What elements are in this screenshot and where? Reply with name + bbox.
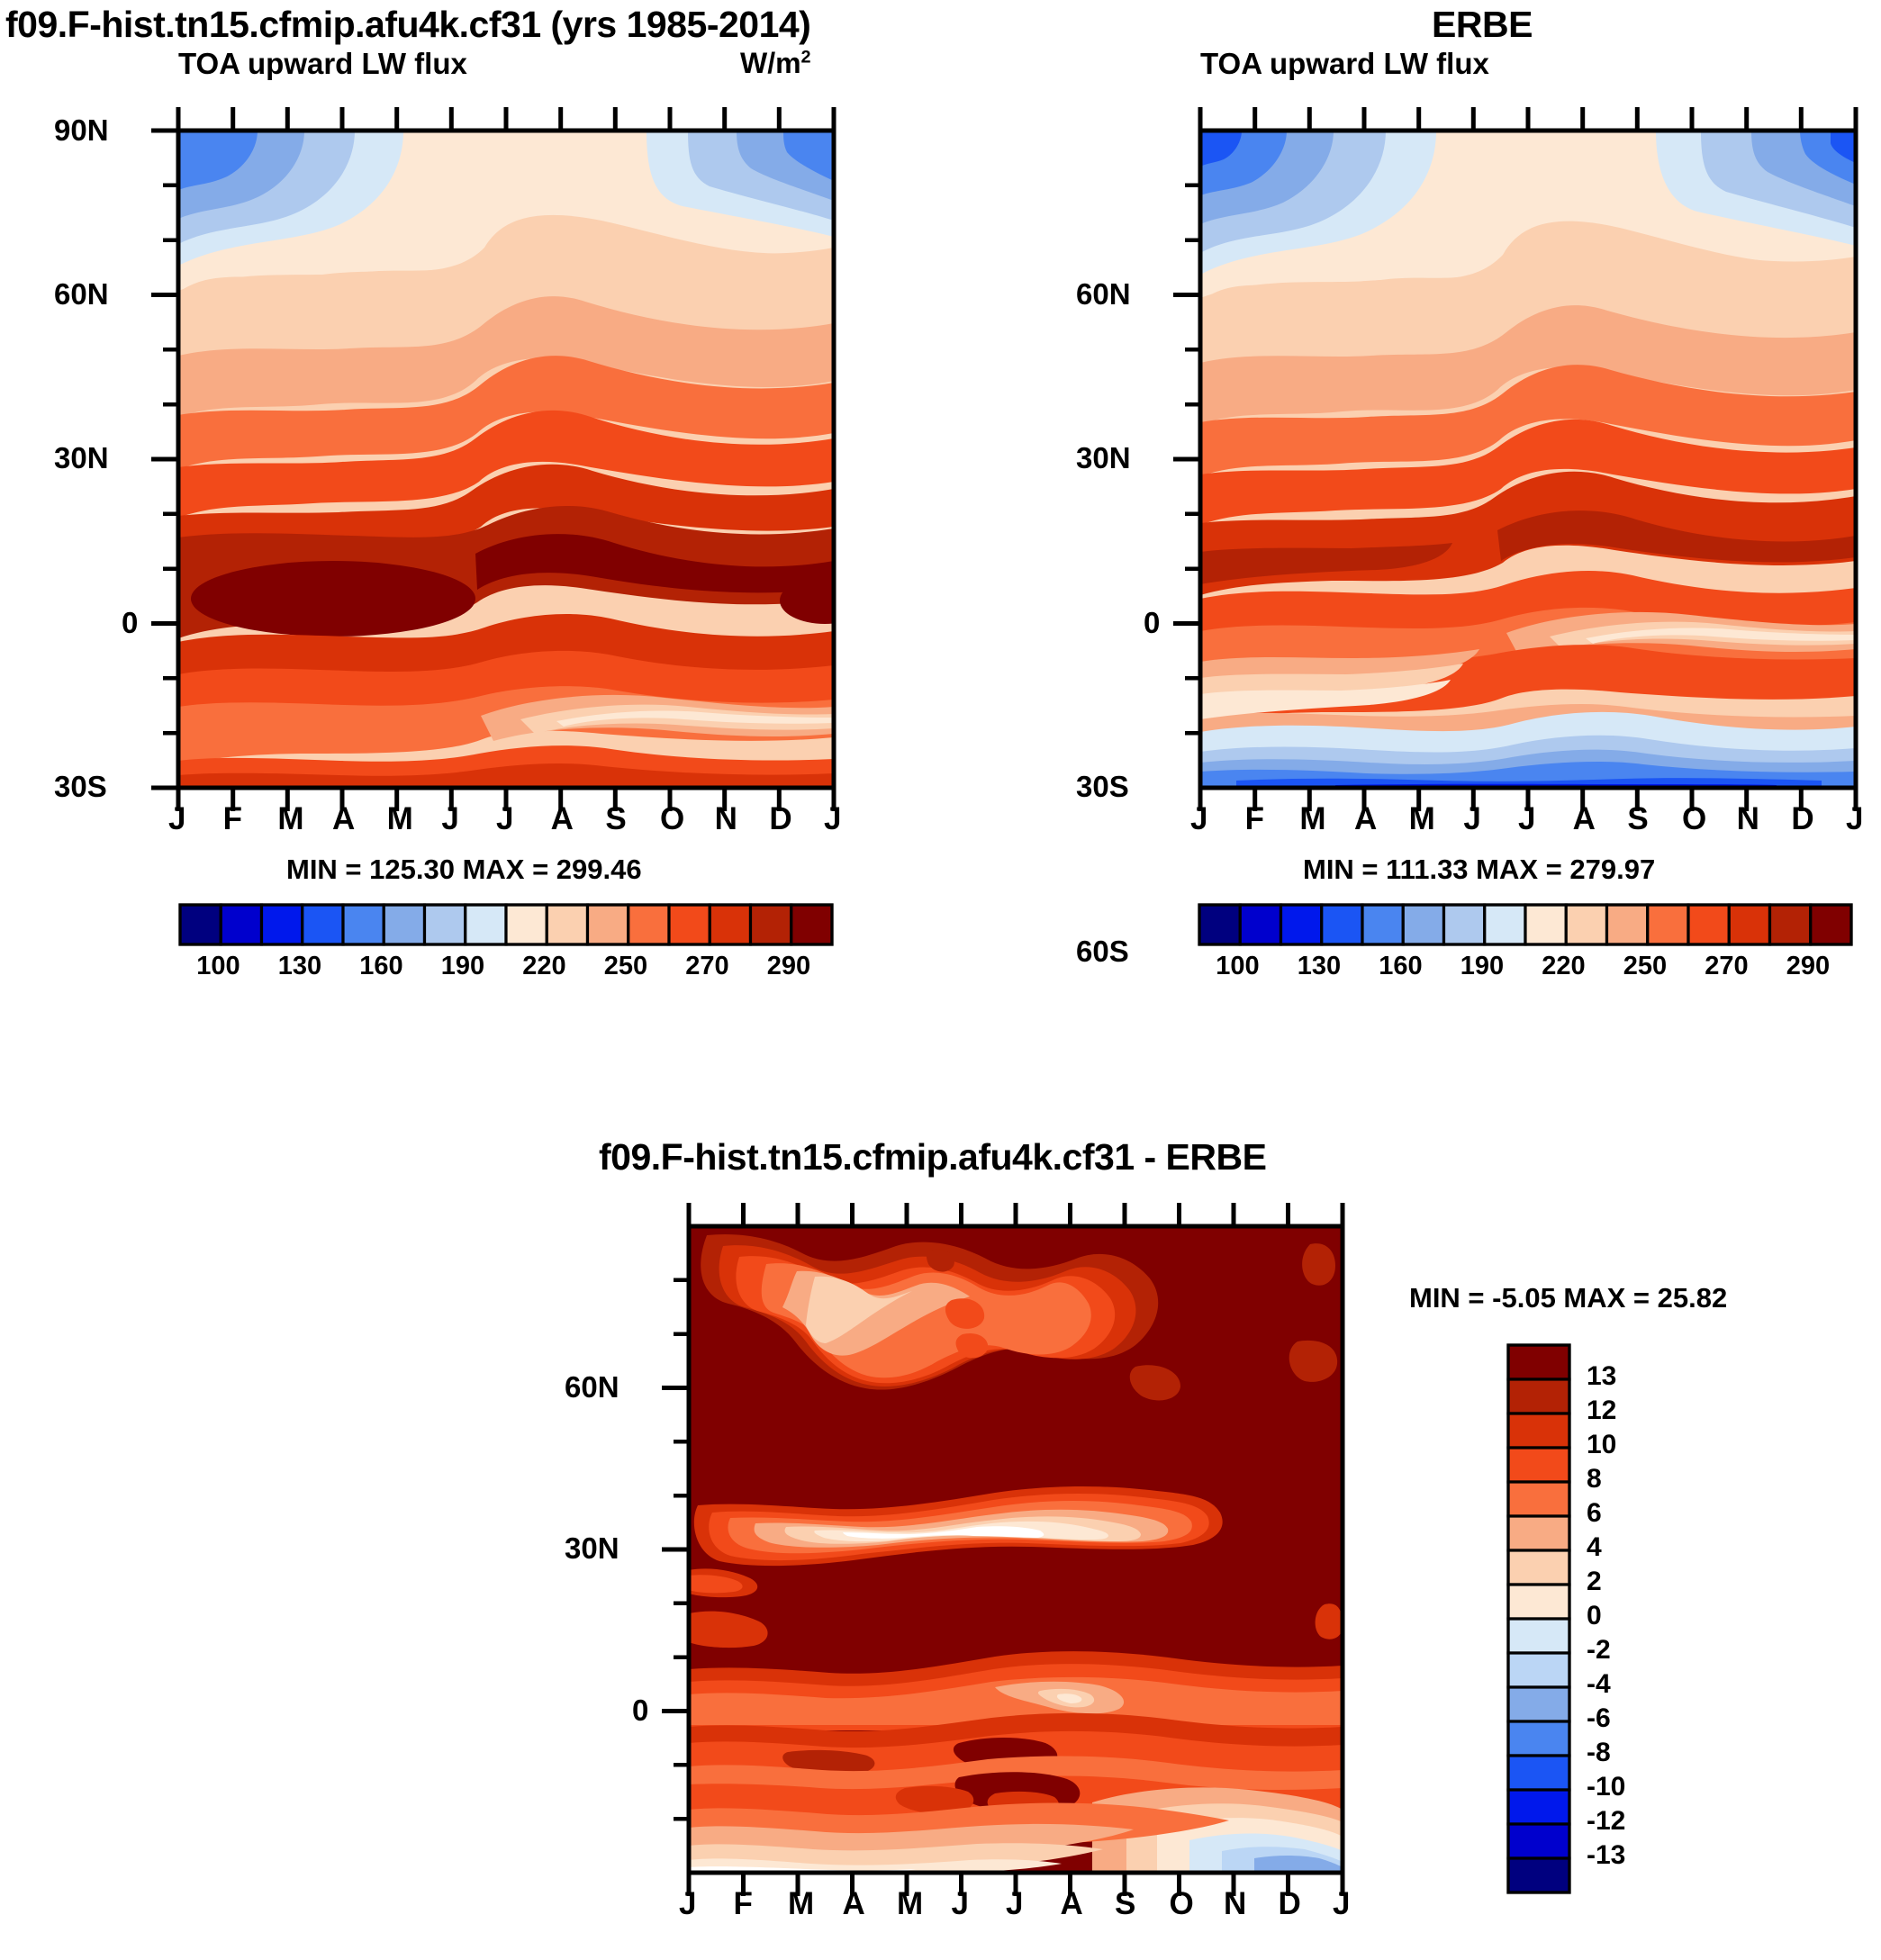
month-label-obs-a-7: A bbox=[1573, 801, 1596, 837]
obs-colorbar-cell-12[interactable] bbox=[1688, 905, 1729, 944]
obs-y-tick-label-eq: 0 bbox=[1144, 606, 1160, 640]
month-label-obs-n-10: N bbox=[1737, 801, 1759, 837]
obs-colorbar-cell-2[interactable] bbox=[1281, 905, 1322, 944]
model-contour-panel bbox=[178, 131, 834, 788]
model-colorbar-cell-4[interactable] bbox=[343, 905, 384, 944]
diff-colorbar-cell-2[interactable] bbox=[1508, 1414, 1569, 1448]
y-tick-label-60n: 60N bbox=[54, 277, 109, 312]
month-label-model-j-6: J bbox=[496, 801, 513, 837]
model-colorbar-label-160: 160 bbox=[359, 952, 402, 981]
y-tick-label-30n: 30N bbox=[54, 441, 109, 475]
diff-panel-title: f09.F-hist.tn15.cfmip.afu4k.cf31 - ERBE bbox=[599, 1136, 1266, 1179]
diff-colorbar-cell-14[interactable] bbox=[1508, 1824, 1569, 1858]
y-tick-label-30s: 30S bbox=[54, 770, 107, 804]
diff-colorbar-cell-9[interactable] bbox=[1508, 1653, 1569, 1687]
diff-colorbar-label-neg8: -8 bbox=[1587, 1738, 1611, 1768]
obs-colorbar-cell-4[interactable] bbox=[1362, 905, 1403, 944]
obs-contour-panel bbox=[1200, 131, 1856, 788]
diff-colorbar-label-neg6: -6 bbox=[1587, 1703, 1611, 1734]
month-label-diff-j-5: J bbox=[952, 1886, 969, 1922]
diff-y-ticks bbox=[662, 1280, 689, 1819]
month-label-model-m-4: M bbox=[387, 801, 413, 837]
diff-colorbar-label-neg12: -12 bbox=[1587, 1806, 1625, 1837]
month-label-obs-f-1: F bbox=[1245, 801, 1264, 837]
diff-colorbar-cell-0[interactable] bbox=[1508, 1345, 1569, 1379]
diff-colorbar-cell-13[interactable] bbox=[1508, 1790, 1569, 1824]
model-colorbar-cell-11[interactable] bbox=[629, 905, 669, 944]
model-panel-subtitle: TOA upward LW flux bbox=[178, 47, 467, 81]
model-colorbar-cell-7[interactable] bbox=[466, 905, 506, 944]
month-label-diff-j-12: J bbox=[1333, 1886, 1350, 1922]
diff-colorbar-cell-6[interactable] bbox=[1508, 1550, 1569, 1585]
obs-contour-plot bbox=[1200, 131, 1856, 788]
diff-contour-panel bbox=[689, 1226, 1343, 1873]
obs-colorbar-label-100: 100 bbox=[1216, 952, 1259, 981]
obs-colorbar-label-220: 220 bbox=[1542, 952, 1585, 981]
obs-colorbar-cell-3[interactable] bbox=[1322, 905, 1362, 944]
model-colorbar-label-100: 100 bbox=[196, 952, 240, 981]
y-tick-label-eq: 0 bbox=[122, 606, 138, 640]
y-tick-label-90n: 90N bbox=[54, 113, 109, 148]
obs-minmax-label: MIN = 111.33 MAX = 279.97 bbox=[1303, 854, 1655, 886]
month-label-obs-j-5: J bbox=[1463, 801, 1480, 837]
model-axes bbox=[178, 131, 834, 788]
month-label-model-f-1: F bbox=[223, 801, 242, 837]
diff-colorbar-cell-5[interactable] bbox=[1508, 1516, 1569, 1550]
obs-colorbar-cell-9[interactable] bbox=[1566, 905, 1606, 944]
obs-y-tick-label-60s: 60S bbox=[1076, 935, 1129, 969]
diff-colorbar[interactable] bbox=[1508, 1345, 1569, 1892]
month-label-obs-m-2: M bbox=[1299, 801, 1325, 837]
model-colorbar[interactable] bbox=[180, 905, 832, 944]
month-label-model-a-3: A bbox=[332, 801, 355, 837]
month-label-obs-m-4: M bbox=[1409, 801, 1435, 837]
month-label-model-m-2: M bbox=[277, 801, 303, 837]
diff-colorbar-label-4: 4 bbox=[1587, 1532, 1602, 1563]
obs-colorbar-label-290: 290 bbox=[1786, 952, 1830, 981]
month-label-diff-n-10: N bbox=[1224, 1886, 1246, 1922]
month-label-obs-j-12: J bbox=[1846, 801, 1863, 837]
model-colorbar-label-270: 270 bbox=[685, 952, 728, 981]
figure-root: f09.F-hist.tn15.cfmip.afu4k.cf31 (yrs 19… bbox=[0, 0, 1881, 1960]
model-minmax-label: MIN = 125.30 MAX = 299.46 bbox=[286, 854, 642, 886]
model-colorbar-cell-6[interactable] bbox=[425, 905, 466, 944]
obs-colorbar-cell-13[interactable] bbox=[1729, 905, 1769, 944]
obs-colorbar-cell-1[interactable] bbox=[1240, 905, 1280, 944]
diff-colorbar-label-neg4: -4 bbox=[1587, 1669, 1611, 1700]
diff-colorbar-label-8: 8 bbox=[1587, 1464, 1602, 1495]
diff-colorbar-cell-3[interactable] bbox=[1508, 1448, 1569, 1482]
model-colorbar-label-220: 220 bbox=[522, 952, 565, 981]
diff-ylab-eq: 0 bbox=[632, 1694, 648, 1728]
obs-colorbar-cell-11[interactable] bbox=[1648, 905, 1688, 944]
month-label-obs-d-11: D bbox=[1791, 801, 1813, 837]
month-label-obs-s-8: S bbox=[1627, 801, 1648, 837]
model-x-ticks bbox=[178, 107, 834, 811]
diff-minmax-label: MIN = -5.05 MAX = 25.82 bbox=[1409, 1282, 1727, 1314]
month-label-diff-s-8: S bbox=[1115, 1886, 1135, 1922]
month-label-model-n-10: N bbox=[715, 801, 737, 837]
month-label-model-d-11: D bbox=[769, 801, 791, 837]
obs-colorbar-cell-10[interactable] bbox=[1607, 905, 1648, 944]
month-label-obs-j-6: J bbox=[1518, 801, 1535, 837]
model-colorbar-cell-8[interactable] bbox=[506, 905, 547, 944]
model-colorbar-cell-15[interactable] bbox=[791, 905, 832, 944]
diff-colorbar-cell-12[interactable] bbox=[1508, 1756, 1569, 1790]
diff-contour-plot bbox=[689, 1226, 1343, 1873]
obs-y-tick-label-30n: 30N bbox=[1076, 441, 1131, 475]
diff-ylab-30n: 30N bbox=[565, 1531, 619, 1566]
obs-colorbar-cell-8[interactable] bbox=[1525, 905, 1566, 944]
diff-colorbar-label-2: 2 bbox=[1587, 1567, 1602, 1597]
obs-y-tick-label-60n: 60N bbox=[1076, 277, 1131, 312]
model-colorbar-cell-9[interactable] bbox=[547, 905, 587, 944]
month-label-obs-j-0: J bbox=[1190, 801, 1207, 837]
model-y-ticks bbox=[151, 131, 178, 788]
diff-colorbar-label-13: 13 bbox=[1587, 1361, 1616, 1392]
month-label-diff-a-3: A bbox=[843, 1886, 865, 1922]
month-label-model-a-7: A bbox=[551, 801, 574, 837]
month-label-diff-f-1: F bbox=[734, 1886, 753, 1922]
diff-colorbar-label-neg10: -10 bbox=[1587, 1772, 1625, 1802]
diff-colorbar-label-10: 10 bbox=[1587, 1430, 1616, 1460]
model-colorbar-cell-2[interactable] bbox=[262, 905, 303, 944]
diff-colorbar-label-6: 6 bbox=[1587, 1498, 1602, 1529]
obs-y-ticks bbox=[1173, 185, 1200, 733]
month-label-model-j-5: J bbox=[441, 801, 458, 837]
obs-colorbar-cell-5[interactable] bbox=[1403, 905, 1443, 944]
diff-colorbar-cell-7[interactable] bbox=[1508, 1585, 1569, 1619]
obs-colorbar-label-130: 130 bbox=[1298, 952, 1341, 981]
obs-colorbar-label-250: 250 bbox=[1623, 952, 1667, 981]
model-colorbar-cell-14[interactable] bbox=[751, 905, 791, 944]
model-colorbar-label-250: 250 bbox=[604, 952, 647, 981]
model-colorbar-cell-5[interactable] bbox=[384, 905, 424, 944]
diff-colorbar-label-neg13: -13 bbox=[1587, 1840, 1625, 1871]
obs-colorbar-label-190: 190 bbox=[1460, 952, 1504, 981]
model-colorbar-cell-0[interactable] bbox=[180, 905, 221, 944]
diff-colorbar-label-neg2: -2 bbox=[1587, 1635, 1611, 1666]
month-label-model-o-9: O bbox=[660, 801, 684, 837]
month-label-model-j-0: J bbox=[168, 801, 185, 837]
obs-colorbar-cell-7[interactable] bbox=[1485, 905, 1525, 944]
obs-y-tick-label-30s: 30S bbox=[1076, 770, 1129, 804]
diff-colorbar-cell-4[interactable] bbox=[1508, 1482, 1569, 1516]
diff-ylab-60n: 60N bbox=[565, 1370, 619, 1405]
model-colorbar-label-290: 290 bbox=[767, 952, 810, 981]
obs-colorbar-cell-15[interactable] bbox=[1811, 905, 1851, 944]
obs-colorbar-label-160: 160 bbox=[1379, 952, 1422, 981]
month-label-diff-o-9: O bbox=[1170, 1886, 1194, 1922]
month-label-diff-m-4: M bbox=[897, 1886, 923, 1922]
diff-colorbar-cell-15[interactable] bbox=[1508, 1858, 1569, 1892]
model-panel-title: f09.F-hist.tn15.cfmip.afu4k.cf31 (yrs 19… bbox=[5, 4, 810, 46]
month-label-obs-o-9: O bbox=[1682, 801, 1706, 837]
month-label-diff-m-2: M bbox=[788, 1886, 814, 1922]
units-label: W/m2 bbox=[740, 47, 811, 80]
obs-colorbar-label-270: 270 bbox=[1705, 952, 1748, 981]
model-colorbar-cell-13[interactable] bbox=[710, 905, 750, 944]
model-colorbar-label-130: 130 bbox=[278, 952, 321, 981]
month-label-model-s-8: S bbox=[605, 801, 626, 837]
month-label-model-j-12: J bbox=[824, 801, 841, 837]
obs-colorbar-cell-0[interactable] bbox=[1199, 905, 1240, 944]
obs-colorbar-cell-14[interactable] bbox=[1770, 905, 1811, 944]
model-colorbar-cell-3[interactable] bbox=[303, 905, 343, 944]
month-label-diff-d-11: D bbox=[1279, 1886, 1301, 1922]
model-colorbar-label-190: 190 bbox=[441, 952, 484, 981]
diff-colorbar-cell-11[interactable] bbox=[1508, 1721, 1569, 1756]
month-label-diff-j-6: J bbox=[1006, 1886, 1023, 1922]
model-colorbar-cell-1[interactable] bbox=[221, 905, 261, 944]
obs-colorbar[interactable] bbox=[1199, 905, 1851, 944]
obs-panel-subtitle: TOA upward LW flux bbox=[1200, 47, 1489, 81]
diff-colorbar-label-0: 0 bbox=[1587, 1601, 1602, 1631]
month-label-diff-a-7: A bbox=[1061, 1886, 1083, 1922]
obs-colorbar-cell-6[interactable] bbox=[1444, 905, 1485, 944]
model-colorbar-cell-12[interactable] bbox=[669, 905, 710, 944]
diff-colorbar-cell-8[interactable] bbox=[1508, 1619, 1569, 1653]
model-colorbar-cell-10[interactable] bbox=[588, 905, 629, 944]
month-label-obs-a-3: A bbox=[1354, 801, 1377, 837]
diff-colorbar-cell-1[interactable] bbox=[1508, 1379, 1569, 1414]
diff-colorbar-label-12: 12 bbox=[1587, 1395, 1616, 1426]
month-label-diff-j-0: J bbox=[679, 1886, 696, 1922]
obs-panel-title: ERBE bbox=[1432, 4, 1533, 46]
diff-colorbar-cell-10[interactable] bbox=[1508, 1687, 1569, 1721]
